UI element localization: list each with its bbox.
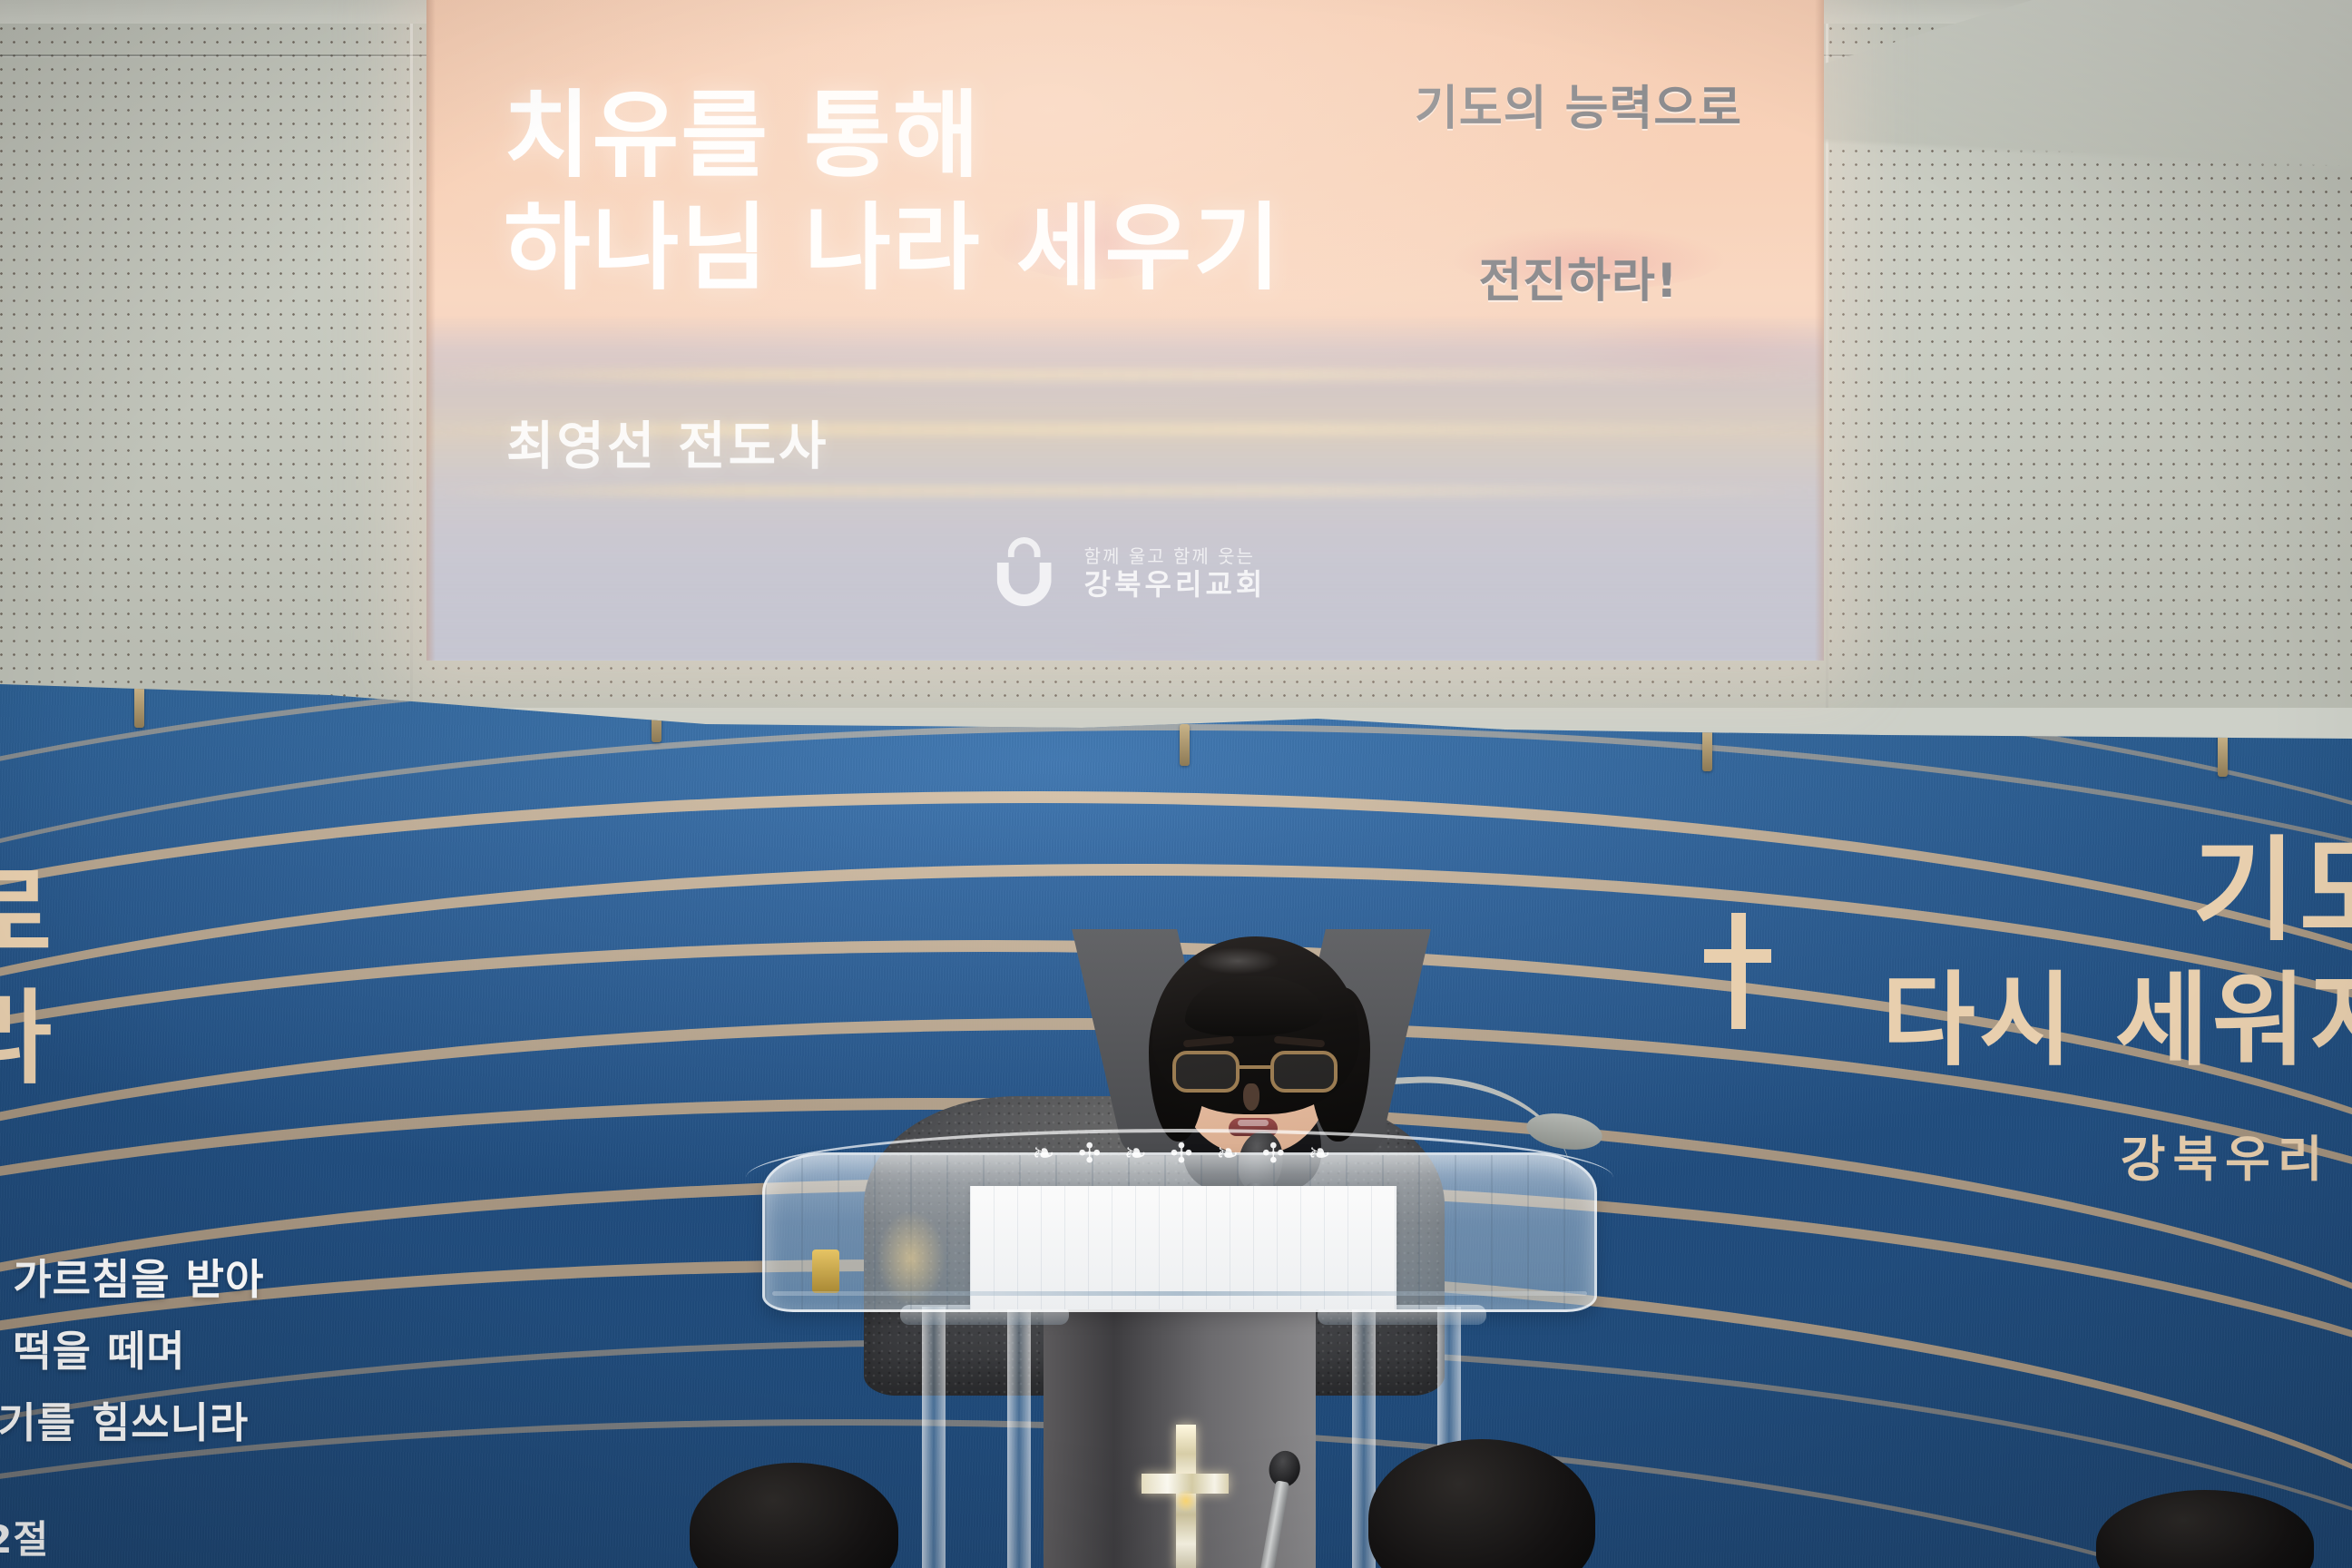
pulpit-leg bbox=[922, 1307, 946, 1568]
mouth-highlight bbox=[1238, 1120, 1269, 1126]
wall-panel-joint bbox=[410, 0, 413, 708]
banner-left-reference: 42절 bbox=[0, 1509, 539, 1564]
banner-left-text-block: 로 라 의 가르침을 받아 고 떡을 떼며 하기를 힘쓰니라 42절 bbox=[0, 853, 539, 1564]
screen-right-edge bbox=[1815, 0, 1824, 661]
banner-left-headline-2: 라 bbox=[0, 977, 539, 1102]
banner-left-verse-1: 의 가르침을 받아 bbox=[0, 1244, 539, 1316]
slide-corner-line-1: 기도의 능력으로 bbox=[1415, 81, 1742, 138]
smile-arc-logo-icon bbox=[985, 532, 1068, 615]
hair-highlight bbox=[1196, 947, 1279, 975]
pulpit-etched-ornament: ❧ ✣ ❧ ✣ ❧ ✣ ❧ bbox=[976, 1138, 1394, 1176]
banner-clip bbox=[2218, 735, 2228, 777]
scene-root: 치유를 통해 하나님 나라 세우기 최영선 전도사 기도의 능력으로 전진하라!… bbox=[0, 0, 2352, 1568]
pulpit-leg bbox=[1007, 1307, 1031, 1568]
banner-left-headline-1: 로 bbox=[0, 853, 539, 977]
projection-screen: 치유를 통해 하나님 나라 세우기 최영선 전도사 기도의 능력으로 전진하라!… bbox=[426, 0, 1824, 661]
slide-title-line-2: 하나님 나라 세우기 bbox=[504, 185, 1282, 311]
banner-clip bbox=[1702, 730, 1712, 771]
slide-corner-text: 기도의 능력으로 전진하라! bbox=[1415, 0, 1742, 426]
banner-clip bbox=[134, 686, 144, 728]
logo-church-name: 강북우리교회 bbox=[1084, 567, 1267, 602]
slide-church-logo: 함께 울고 함께 웃는 강북우리교회 bbox=[985, 532, 1267, 615]
logo-tagline: 함께 울고 함께 웃는 bbox=[1084, 545, 1267, 567]
banner-left-verse-2: 고 떡을 떼며 bbox=[0, 1316, 539, 1387]
slide-speaker-name: 최영선 전도사 bbox=[506, 405, 828, 479]
banner-right-line-3: 강북우리 교 bbox=[1626, 1119, 2352, 1191]
crystal-cross-icon bbox=[1142, 1425, 1229, 1568]
screen-left-edge bbox=[426, 0, 436, 661]
banner-left-verse-3: 하기를 힘쓰니라 bbox=[0, 1387, 539, 1459]
slide-title-line-1: 치유를 통해 bbox=[504, 73, 982, 199]
nose bbox=[1243, 1083, 1259, 1111]
banner-clip bbox=[1180, 724, 1190, 766]
slide-corner-line-2: 전진하라! bbox=[1415, 253, 1742, 310]
cross-icon bbox=[1704, 913, 1771, 1029]
pulpit-gold-fitting bbox=[812, 1249, 839, 1293]
